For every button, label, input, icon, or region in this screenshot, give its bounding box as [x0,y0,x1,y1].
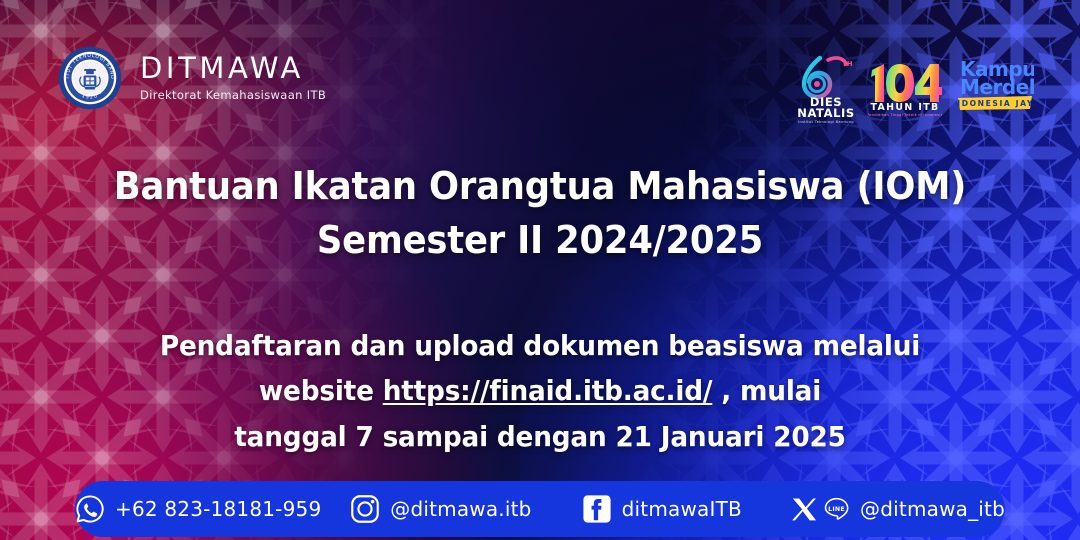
finaid-link[interactable]: https://finaid.itb.ac.id/ [383,374,713,407]
body-line-2: website https://finaid.itb.ac.id/ , mula… [32,368,1047,413]
poster-body: Pendaftaran dan upload dokumen beasiswa … [32,323,1047,459]
svg-text:NATALIS: NATALIS [798,106,854,120]
kampus-merdeka-logo: Kampus Merdeka INDONESIA JAYA [956,52,1034,119]
svg-text:Institut Teknologi Bandung: Institut Teknologi Bandung [798,120,854,124]
x-handle: @ditmawa_itb [860,497,1005,521]
brand-subtitle: Direktorat Kemahasiswaan ITB [140,90,326,102]
x-twitter-icon[interactable] [790,495,818,523]
facebook-icon[interactable] [582,494,612,524]
social-media-bar: +62 823-18181-959 @ditmawa.itb ditm [75,481,1005,537]
facebook-contact[interactable]: ditmawaITB [582,494,742,524]
headline-line-2: Semester II 2024/2025 [38,214,1042,268]
whatsapp-contact[interactable]: +62 823-18181-959 [75,494,321,524]
svg-text:INDONESIA JAYA: INDONESIA JAYA [956,99,1034,108]
itb-seal-icon: INSTITUT TEKNOLOGI BANDUNG · 1920 · [58,46,122,110]
line-icon[interactable]: LINE [823,496,850,523]
svg-text:LINE: LINE [828,505,845,512]
poster: INSTITUT TEKNOLOGI BANDUNG · 1920 · [0,0,1080,540]
body-line-2-prefix: website [259,374,383,407]
poster-headline: Bantuan Ikatan Orangtua Mahasiswa (IOM) … [38,160,1042,268]
brand-title: DITMAWA [140,54,326,83]
facebook-handle: ditmawaITB [622,497,742,521]
svg-text:Pendidikan Tinggi Teknik di In: Pendidikan Tinggi Teknik di Indonesia [868,113,942,117]
body-line-3: tanggal 7 sampai dengan 21 Januari 2025 [32,414,1047,459]
whatsapp-icon[interactable] [75,494,105,524]
poster-header: INSTITUT TEKNOLOGI BANDUNG · 1920 · [0,46,1080,130]
body-line-1: Pendaftaran dan upload dokumen beasiswa … [32,323,1047,368]
instagram-icon[interactable] [350,494,380,524]
brand-text-block: DITMAWA Direktorat Kemahasiswaan ITB [140,54,326,102]
headline-line-1: Bantuan Ikatan Orangtua Mahasiswa (IOM) [114,164,966,208]
dies-natalis-logo: TH DIES NATALIS Institut Teknologi Bandu… [798,52,854,129]
svg-text:TH: TH [842,60,853,68]
svg-text:TAHUN ITB: TAHUN ITB [870,102,939,113]
instagram-contact[interactable]: @ditmawa.itb [350,494,531,524]
body-line-2-suffix: , mulai [712,374,821,407]
x-line-contact[interactable]: LINE @ditmawa_itb [790,495,1005,523]
tahun-itb-logo: TAHUN ITB Pendidikan Tinggi Teknik di In… [868,52,942,123]
svg-text:Merdeka: Merdeka [960,75,1034,99]
whatsapp-number: +62 823-18181-959 [115,497,321,521]
ditmawa-brand: INSTITUT TEKNOLOGI BANDUNG · 1920 · [58,46,326,110]
instagram-handle: @ditmawa.itb [390,497,531,521]
partner-logos: TH DIES NATALIS Institut Teknologi Bandu… [798,52,1034,129]
